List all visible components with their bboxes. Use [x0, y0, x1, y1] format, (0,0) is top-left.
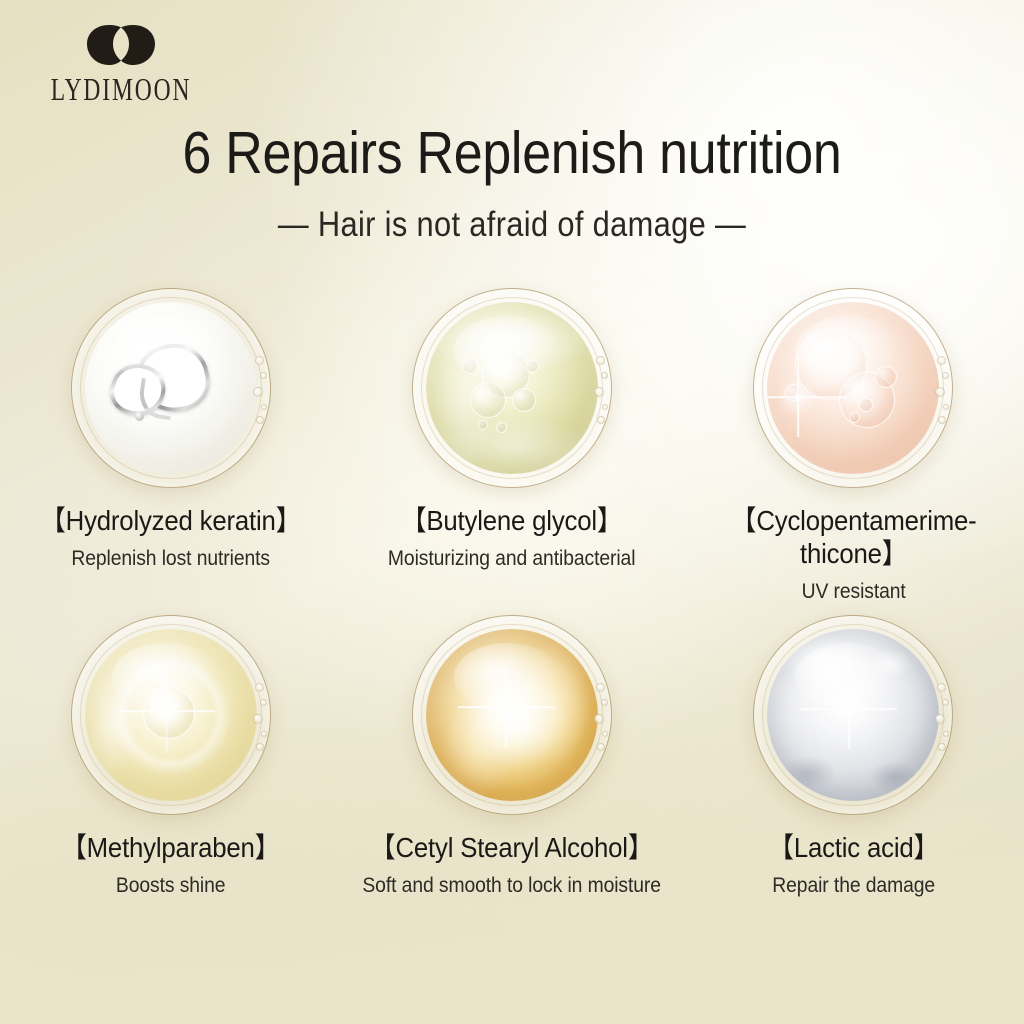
ingredient-description: Replenish lost nutrients	[14, 546, 328, 572]
page-title: 6 Repairs Replenish nutrition	[61, 122, 962, 185]
ingredient-name: 【Cyclopentamerime- thicone】	[696, 504, 1010, 570]
swatch-dish-hydrolyzed-keratin	[71, 288, 271, 488]
ingredient-card-methylparaben[interactable]: 【Methylparaben】 Boosts shine	[0, 615, 341, 899]
ingredient-card-hydrolyzed-keratin[interactable]: 【Hydrolyzed keratin】 Replenish lost nutr…	[0, 288, 341, 605]
ingredient-row-2: 【Methylparaben】 Boosts shine	[0, 615, 1024, 899]
ingredient-name: 【Cetyl Stearyl Alcohol】	[355, 831, 669, 864]
ingredient-grid: 【Hydrolyzed keratin】 Replenish lost nutr…	[0, 288, 1024, 900]
swatch-dish-cetyl-stearyl-alcohol	[412, 615, 612, 815]
swatch-dish-cyclopentamerimethicone	[753, 288, 953, 488]
ingredient-card-cetyl-stearyl-alcohol[interactable]: 【Cetyl Stearyl Alcohol】 Soft and smooth …	[341, 615, 682, 899]
swatch-dish-methylparaben	[71, 615, 271, 815]
ingredient-description: Boosts shine	[14, 873, 328, 899]
ingredient-row-1: 【Hydrolyzed keratin】 Replenish lost nutr…	[0, 288, 1024, 605]
page-subtitle: — Hair is not afraid of damage —	[61, 206, 962, 245]
ingredient-description: Soft and smooth to lock in moisture	[355, 873, 669, 899]
ingredient-caption: 【Butylene glycol】 Moisturizing and antib…	[341, 504, 682, 572]
ingredient-card-butylene-glycol[interactable]: 【Butylene glycol】 Moisturizing and antib…	[341, 288, 682, 605]
ingredient-caption: 【Hydrolyzed keratin】 Replenish lost nutr…	[0, 504, 341, 572]
swatch-dish-lactic-acid	[753, 615, 953, 815]
ingredient-description: Repair the damage	[696, 873, 1010, 899]
ingredient-name: 【Butylene glycol】	[355, 504, 669, 537]
ingredient-description: Moisturizing and antibacterial	[355, 546, 669, 572]
ingredient-caption: 【Cyclopentamerime- thicone】 UV resistant	[683, 504, 1024, 605]
infographic-page: LYDIMOON 6 Repairs Replenish nutrition —…	[0, 0, 1024, 1024]
ingredient-name: 【Lactic acid】	[696, 831, 1010, 864]
ingredient-caption: 【Methylparaben】 Boosts shine	[0, 831, 341, 899]
ingredient-description: UV resistant	[696, 579, 1010, 605]
ingredient-caption: 【Cetyl Stearyl Alcohol】 Soft and smooth …	[341, 831, 682, 899]
brand-logo: LYDIMOON	[16, 20, 226, 101]
ingredient-name: 【Hydrolyzed keratin】	[14, 504, 328, 537]
brand-name: LYDIMOON	[22, 73, 219, 109]
swatch-dish-butylene-glycol	[412, 288, 612, 488]
ingredient-card-lactic-acid[interactable]: 【Lactic acid】 Repair the damage	[683, 615, 1024, 899]
ingredient-card-cyclopentamerimethicone[interactable]: 【Cyclopentamerime- thicone】 UV resistant	[683, 288, 1024, 605]
ingredient-name: 【Methylparaben】	[14, 831, 328, 864]
interlocking-rings-icon	[78, 20, 164, 72]
ingredient-caption: 【Lactic acid】 Repair the damage	[683, 831, 1024, 899]
